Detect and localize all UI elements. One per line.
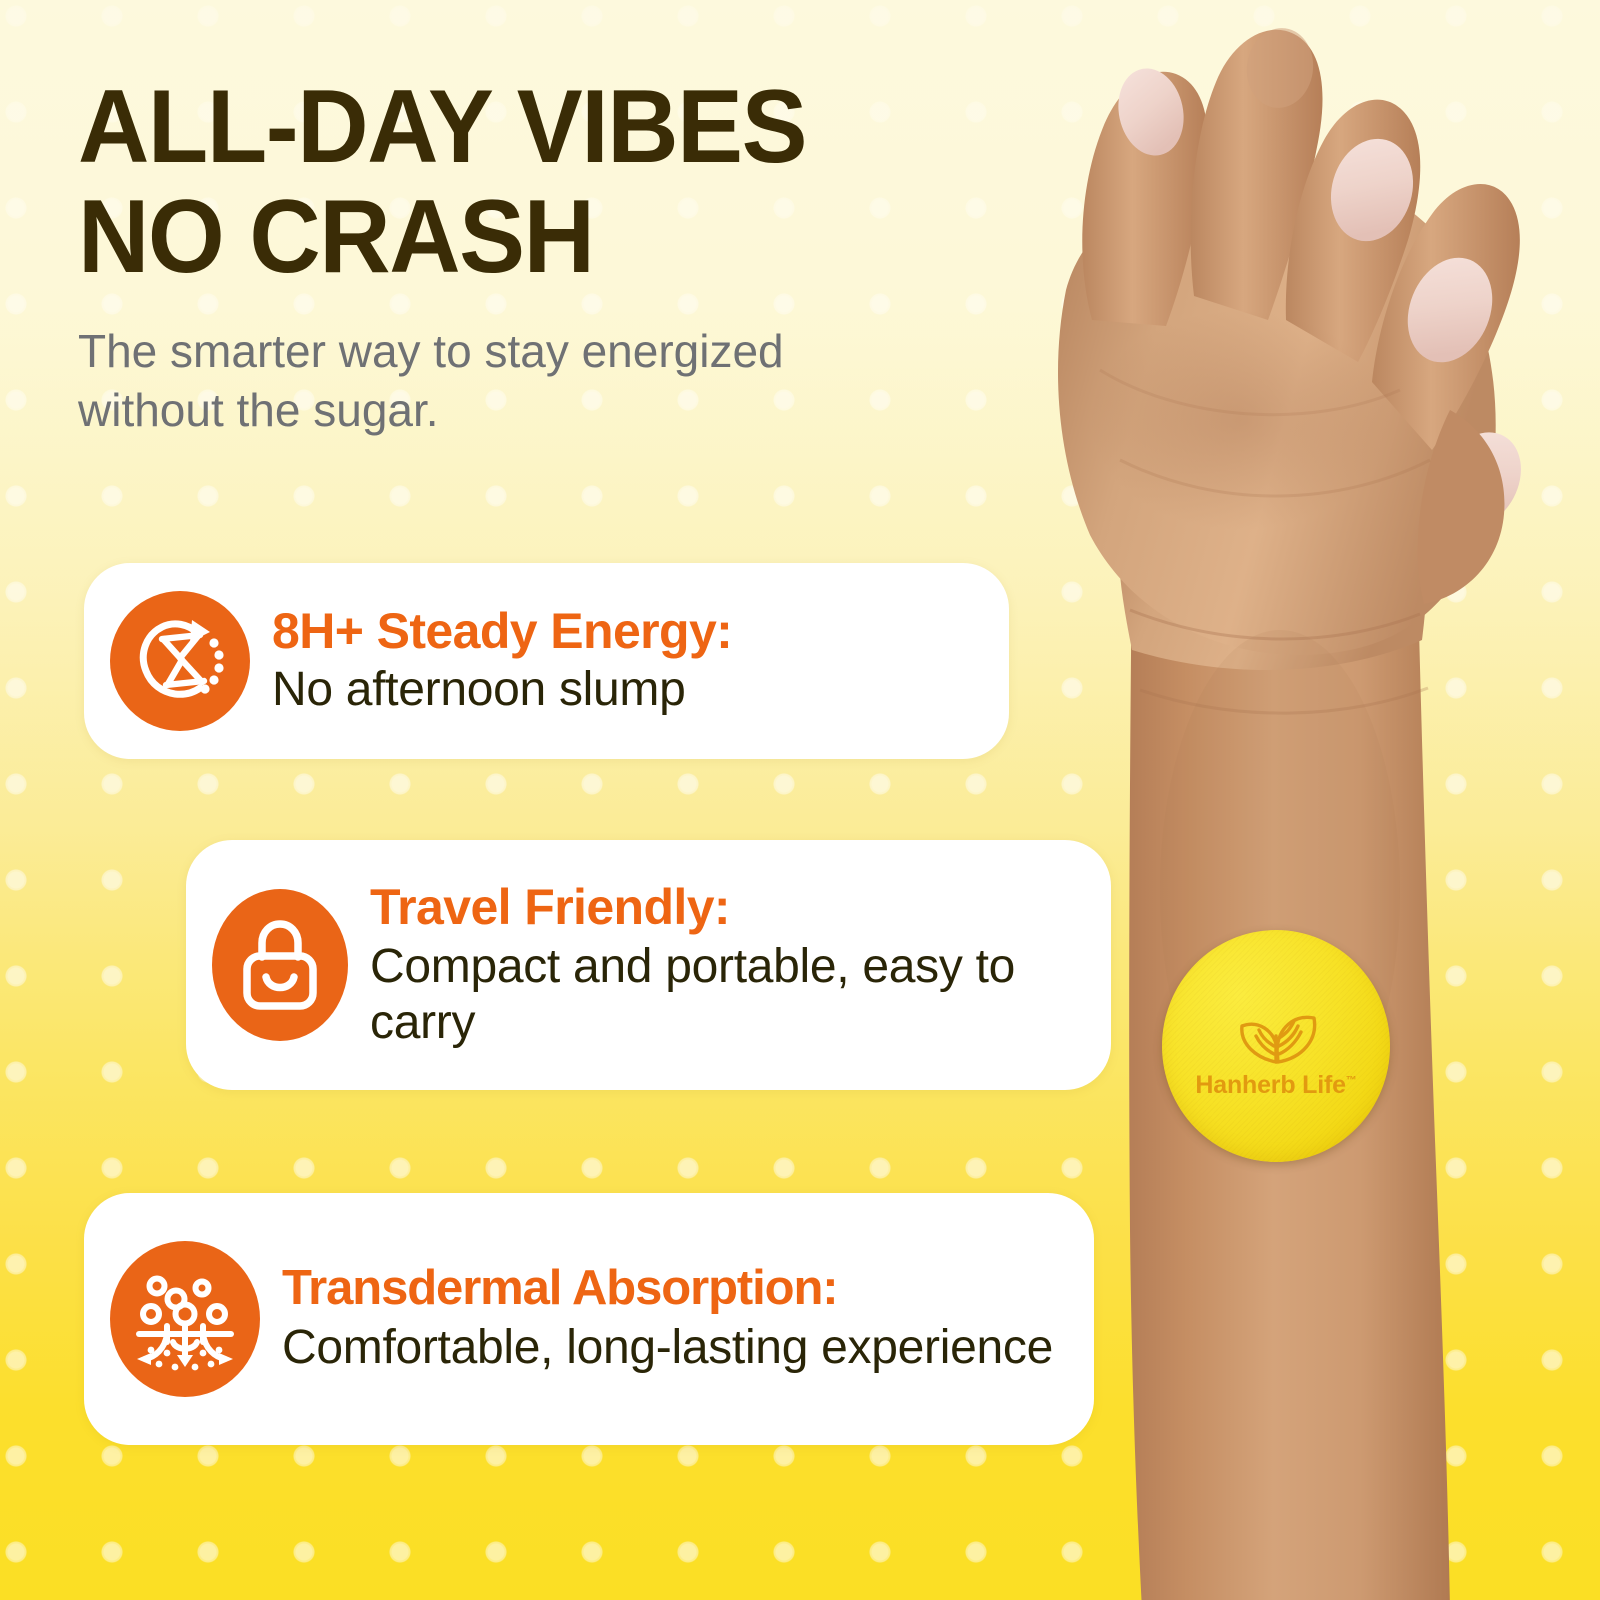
feature-card-3-text: Transdermal Absorption: Comfortable, lon… [282,1262,1064,1376]
transdermal-absorption-icon [110,1241,260,1397]
feature-card-1-title: 8H+ Steady Energy: [272,604,979,659]
feature-card-3-title: Transdermal Absorption: [282,1262,1064,1316]
headline-subtitle: The smarter way to stay energized withou… [78,322,798,440]
feature-card-1-description: No afternoon slump [272,663,979,718]
feature-card-3-description: Comfortable, long-lasting experience [282,1320,1064,1376]
headline-line-2: NO CRASH [78,182,962,292]
trademark-symbol: ™ [1346,1075,1357,1087]
infographic-canvas: Hanherb Life™ ALL-DAY VIBES NO CRASH The… [0,0,1600,1600]
headline-block: ALL-DAY VIBES NO CRASH The smarter way t… [78,72,1008,440]
feature-card-1-text: 8H+ Steady Energy: No afternoon slump [272,604,979,718]
patch-brand-text: Hanherb Life [1195,1071,1345,1099]
patch-brand-name: Hanherb Life™ [1195,1071,1356,1100]
hourglass-refresh-icon [110,591,250,731]
feature-card-steady-energy[interactable]: 8H+ Steady Energy: No afternoon slump [84,563,1009,759]
two-leaf-icon [1228,996,1324,1066]
feature-card-2-text: Travel Friendly: Compact and portable, e… [370,880,1081,1050]
feature-card-transdermal-absorption[interactable]: Transdermal Absorption: Comfortable, lon… [84,1193,1094,1445]
feature-card-travel-friendly[interactable]: Travel Friendly: Compact and portable, e… [186,840,1111,1090]
feature-card-2-title: Travel Friendly: [370,880,1081,935]
handbag-icon [212,889,348,1041]
feature-card-2-description: Compact and portable, easy to carry [370,939,1081,1050]
product-patch-sticker: Hanherb Life™ [1162,930,1390,1162]
headline-line-1: ALL-DAY VIBES [78,72,962,182]
